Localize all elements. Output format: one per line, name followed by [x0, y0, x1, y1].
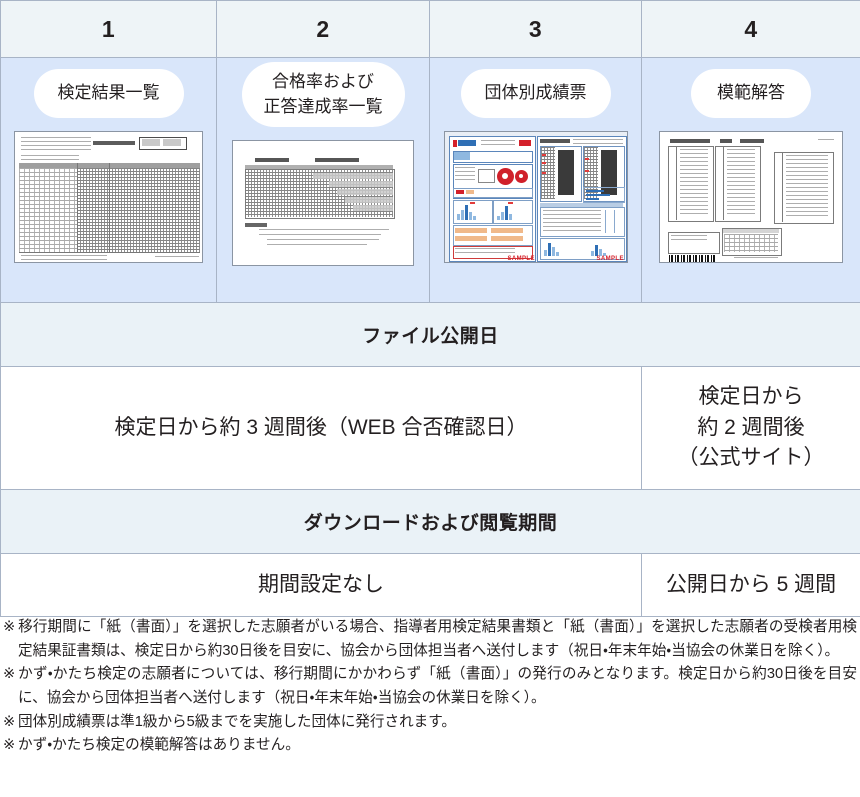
document-thumbnail-1 [14, 131, 203, 263]
release-main-value: 検定日から約 3 週間後（WEB 合否確認日） [1, 367, 642, 490]
column-number-3: 3 [430, 1, 642, 58]
document-label-2: 合格率および 正答達成率一覧 [242, 62, 405, 127]
footnote-mark: ※ [3, 711, 18, 735]
table-row-release-values: 検定日から約 3 週間後（WEB 合否確認日） 検定日から 約 2 週間後 （公… [1, 367, 860, 490]
document-cell-4: 模範解答 [642, 58, 860, 303]
document-thumbnail-3: SAMPLE [444, 131, 628, 263]
column-number-4: 4 [642, 1, 860, 58]
document-thumbnail-2 [232, 140, 414, 266]
document-cell-2: 合格率および 正答達成率一覧 [217, 58, 430, 303]
footnotes: ※移行期間に「紙（書面）」を選択した志願者がいる場合、指導者用検定結果書類と「紙… [3, 616, 857, 758]
footnote-text: かず・かたち検定の志願者については、移行期間にかかわらず「紙（書面）」の発行のみ… [18, 666, 857, 706]
band-period-label: ダウンロードおよび閲覧期間 [1, 490, 860, 554]
footnote-item: ※移行期間に「紙（書面）」を選択した志願者がいる場合、指導者用検定結果書類と「紙… [3, 616, 857, 663]
document-label-1: 検定結果一覧 [34, 69, 184, 118]
column-number-1: 1 [1, 1, 217, 58]
table-row-period-values: 期間設定なし 公開日から 5 週間 [1, 554, 860, 617]
document-thumbnail-4 [659, 131, 843, 263]
document-label-3: 団体別成績票 [461, 69, 611, 118]
period-main-value: 期間設定なし [1, 554, 642, 617]
document-cell-3: 団体別成績票 [430, 58, 642, 303]
document-page: 1 2 3 4 検定結果一覧 [0, 0, 860, 797]
footnote-text: 団体別成績票は準1級から5級までを実施した団体に発行されます。 [18, 714, 456, 730]
document-label-4: 模範解答 [691, 69, 811, 118]
footnote-item: ※かず・かたち検定の志願者については、移行期間にかかわらず「紙（書面）」の発行の… [3, 663, 857, 710]
table-row-documents: 検定結果一覧 [1, 58, 860, 303]
table-row-release-band: ファイル公開日 [1, 303, 860, 367]
release-col4-value: 検定日から 約 2 週間後 （公式サイト） [642, 367, 860, 490]
footnote-item: ※団体別成績票は準1級から5級までを実施した団体に発行されます。 [3, 711, 857, 735]
band-release-label: ファイル公開日 [1, 303, 860, 367]
schedule-table: 1 2 3 4 検定結果一覧 [0, 0, 860, 617]
footnote-mark: ※ [3, 734, 18, 758]
document-cell-1: 検定結果一覧 [1, 58, 217, 303]
table-row-numbers: 1 2 3 4 [1, 1, 860, 58]
table-row-period-band: ダウンロードおよび閲覧期間 [1, 490, 860, 554]
footnote-mark: ※ [3, 663, 18, 687]
period-col4-value: 公開日から 5 週間 [642, 554, 860, 617]
footnote-item: ※かず・かたち検定の模範解答はありません。 [3, 734, 857, 758]
footnote-text: かず・かたち検定の模範解答はありません。 [18, 737, 300, 753]
footnote-text: 移行期間に「紙（書面）」を選択した志願者がいる場合、指導者用検定結果書類と「紙（… [18, 619, 857, 659]
footnote-mark: ※ [3, 616, 18, 640]
column-number-2: 2 [217, 1, 430, 58]
